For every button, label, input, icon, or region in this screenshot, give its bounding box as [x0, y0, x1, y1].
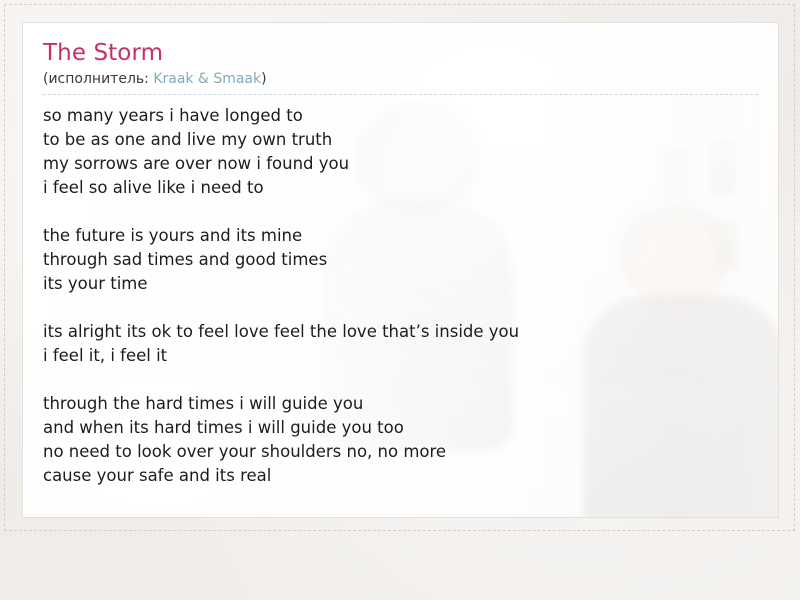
lyrics-stanza: its alright its ok to feel love feel the… [43, 320, 758, 368]
lyrics-line: its alright its ok to feel love feel the… [43, 320, 758, 344]
lyrics-line: its your time [43, 272, 758, 296]
lyrics-stanza: so many years i have longed toto be as o… [43, 104, 758, 200]
lyrics-line: through sad times and good times [43, 248, 758, 272]
lyrics-line: and when its hard times i will guide you… [43, 416, 758, 440]
lyrics-stanza: through the hard times i will guide youa… [43, 392, 758, 488]
header-divider [43, 94, 758, 95]
lyrics-line: to be as one and live my own truth [43, 128, 758, 152]
byline-prefix: (исполнитель: [43, 71, 153, 87]
lyrics-line: i feel it, i feel it [43, 344, 758, 368]
lyrics-line: i feel so alive like i need to [43, 176, 758, 200]
lyrics-line: so many years i have longed to [43, 104, 758, 128]
lyrics-line: the future is yours and its mine [43, 224, 758, 248]
lyrics-stanza: the future is yours and its minethrough … [43, 224, 758, 296]
artist-byline: (исполнитель: Kraak & Smaak) [43, 70, 758, 95]
lyrics-card: The Storm (исполнитель: Kraak & Smaak) s… [22, 22, 779, 518]
lyrics-line: my sorrows are over now i found you [43, 152, 758, 176]
lyrics-line: through the hard times i will guide you [43, 392, 758, 416]
lyrics-content: The Storm (исполнитель: Kraak & Smaak) s… [23, 23, 778, 488]
lyrics-body: so many years i have longed toto be as o… [43, 104, 758, 488]
song-title: The Storm [43, 39, 758, 68]
lyrics-line: no need to look over your shoulders no, … [43, 440, 758, 464]
artist-link[interactable]: Kraak & Smaak [153, 71, 261, 87]
byline-suffix: ) [261, 71, 266, 87]
lyrics-line: cause your safe and its real [43, 464, 758, 488]
